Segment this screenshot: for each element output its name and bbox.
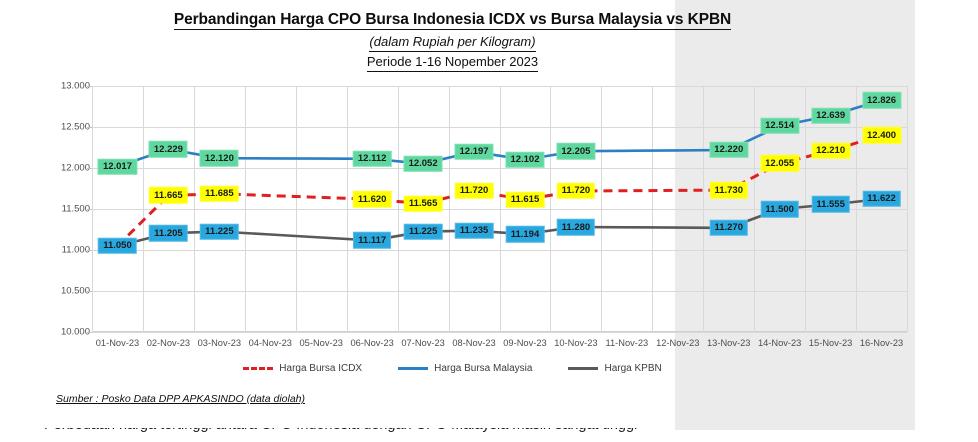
data-label: 11.730 <box>709 182 748 199</box>
legend-item[interactable]: Harga Bursa Malaysia <box>398 363 532 374</box>
legend-item[interactable]: Harga KPBN <box>568 363 661 374</box>
x-axis-labels: 01-Nov-2302-Nov-2303-Nov-2304-Nov-2305-N… <box>92 338 907 356</box>
x-axis-tick-label: 13-Nov-23 <box>707 338 750 348</box>
source-note: Sumber : Posko Data DPP APKASINDO (data … <box>56 393 305 405</box>
data-label: 11.555 <box>811 196 850 213</box>
y-axis-tick-label: 12.500 <box>61 122 90 133</box>
legend-item[interactable]: Harga Bursa ICDX <box>243 363 362 374</box>
data-label: 11.280 <box>557 219 596 236</box>
data-label: 12.112 <box>353 151 392 168</box>
data-label: 12.229 <box>149 141 188 158</box>
x-axis-tick-label: 06-Nov-23 <box>350 338 393 348</box>
y-axis-tick-label: 12.000 <box>61 163 90 174</box>
vertical-gridline <box>907 86 908 332</box>
data-labels-layer: 11.66511.68511.62011.56511.72011.61511.7… <box>92 86 907 332</box>
data-label: 11.565 <box>404 195 443 212</box>
chart-page: Perbandingan Harga CPO Bursa Indonesia I… <box>0 0 978 442</box>
legend-swatch-icon <box>243 367 273 370</box>
gridline <box>92 332 907 333</box>
chart-period: Periode 1-16 Nopember 2023 <box>0 54 905 72</box>
data-label: 11.117 <box>353 232 391 249</box>
data-label: 11.720 <box>557 183 596 200</box>
clipped-body-text: Perbedaan harga tertinggi antara CPO Ind… <box>44 428 974 442</box>
data-label: 11.270 <box>709 220 748 237</box>
x-axis-tick-label: 16-Nov-23 <box>860 338 903 348</box>
data-label: 12.017 <box>98 158 137 175</box>
data-label: 11.225 <box>404 223 443 240</box>
x-axis-tick-label: 14-Nov-23 <box>758 338 801 348</box>
data-label: 12.102 <box>505 151 544 168</box>
x-axis-tick-label: 12-Nov-23 <box>656 338 699 348</box>
data-label: 11.194 <box>506 226 545 243</box>
data-label: 11.225 <box>200 223 239 240</box>
legend-label: Harga KPBN <box>604 363 661 374</box>
legend-label: Harga Bursa Malaysia <box>434 363 532 374</box>
data-label: 12.120 <box>200 150 239 167</box>
x-axis-tick-label: 01-Nov-23 <box>96 338 139 348</box>
y-axis-tick-label: 13.000 <box>61 81 90 92</box>
data-label: 12.220 <box>709 142 748 159</box>
legend-swatch-icon <box>398 367 428 370</box>
data-label: 11.500 <box>760 201 799 218</box>
x-axis-tick-label: 10-Nov-23 <box>554 338 597 348</box>
x-axis-tick-label: 05-Nov-23 <box>300 338 343 348</box>
x-axis-tick-label: 08-Nov-23 <box>452 338 495 348</box>
clipped-body-text-line: Perbedaan harga tertinggi antara CPO Ind… <box>44 428 974 433</box>
plot-area: 13.00012.50012.00011.50011.00010.50010.0… <box>0 86 978 332</box>
chart-titles: Perbandingan Harga CPO Bursa Indonesia I… <box>0 10 905 72</box>
legend-label: Harga Bursa ICDX <box>279 363 362 374</box>
x-axis-tick-label: 07-Nov-23 <box>401 338 444 348</box>
data-label: 11.205 <box>149 225 188 242</box>
y-axis-labels: 13.00012.50012.00011.50011.00010.50010.0… <box>45 86 90 332</box>
chart-period-text: Periode 1-16 Nopember 2023 <box>367 54 538 72</box>
legend-swatch-icon <box>568 367 598 370</box>
data-label: 11.665 <box>149 187 188 204</box>
chart-legend: Harga Bursa ICDXHarga Bursa MalaysiaHarg… <box>0 363 905 374</box>
chart-title: Perbandingan Harga CPO Bursa Indonesia I… <box>174 10 731 30</box>
data-label: 11.620 <box>353 191 392 208</box>
data-label: 12.826 <box>862 92 901 109</box>
chart-subtitle: (dalam Rupiah per Kilogram) <box>0 34 905 52</box>
x-axis-tick-label: 03-Nov-23 <box>198 338 241 348</box>
data-label: 11.615 <box>506 191 545 208</box>
data-label: 12.052 <box>404 155 443 172</box>
data-label: 12.639 <box>811 107 850 124</box>
data-label: 11.685 <box>200 186 239 203</box>
x-axis-tick-label: 15-Nov-23 <box>809 338 852 348</box>
y-axis-tick-label: 10.500 <box>61 286 90 297</box>
data-label: 12.210 <box>811 143 850 160</box>
source-note-text: Sumber : Posko Data DPP APKASINDO (data … <box>56 393 305 405</box>
y-axis-tick-label: 11.500 <box>62 204 90 215</box>
chart-subtitle-text: (dalam Rupiah per Kilogram) <box>369 34 535 52</box>
data-label: 11.235 <box>455 222 494 239</box>
data-label: 12.205 <box>556 143 595 160</box>
data-label: 11.720 <box>455 183 494 200</box>
x-axis-tick-label: 02-Nov-23 <box>147 338 190 348</box>
y-axis-tick-label: 10.000 <box>61 327 90 338</box>
x-axis-tick-label: 09-Nov-23 <box>503 338 546 348</box>
data-label: 12.514 <box>760 118 799 135</box>
data-label: 11.050 <box>98 238 137 255</box>
data-label: 11.622 <box>862 191 901 208</box>
data-label: 12.197 <box>455 144 494 161</box>
data-label: 12.400 <box>862 127 901 144</box>
data-label: 12.055 <box>760 155 799 172</box>
y-axis-tick-label: 11.000 <box>62 245 90 256</box>
x-axis-tick-label: 04-Nov-23 <box>249 338 292 348</box>
y-axis-tick <box>87 332 92 333</box>
x-axis-tick-label: 11-Nov-23 <box>605 338 648 348</box>
